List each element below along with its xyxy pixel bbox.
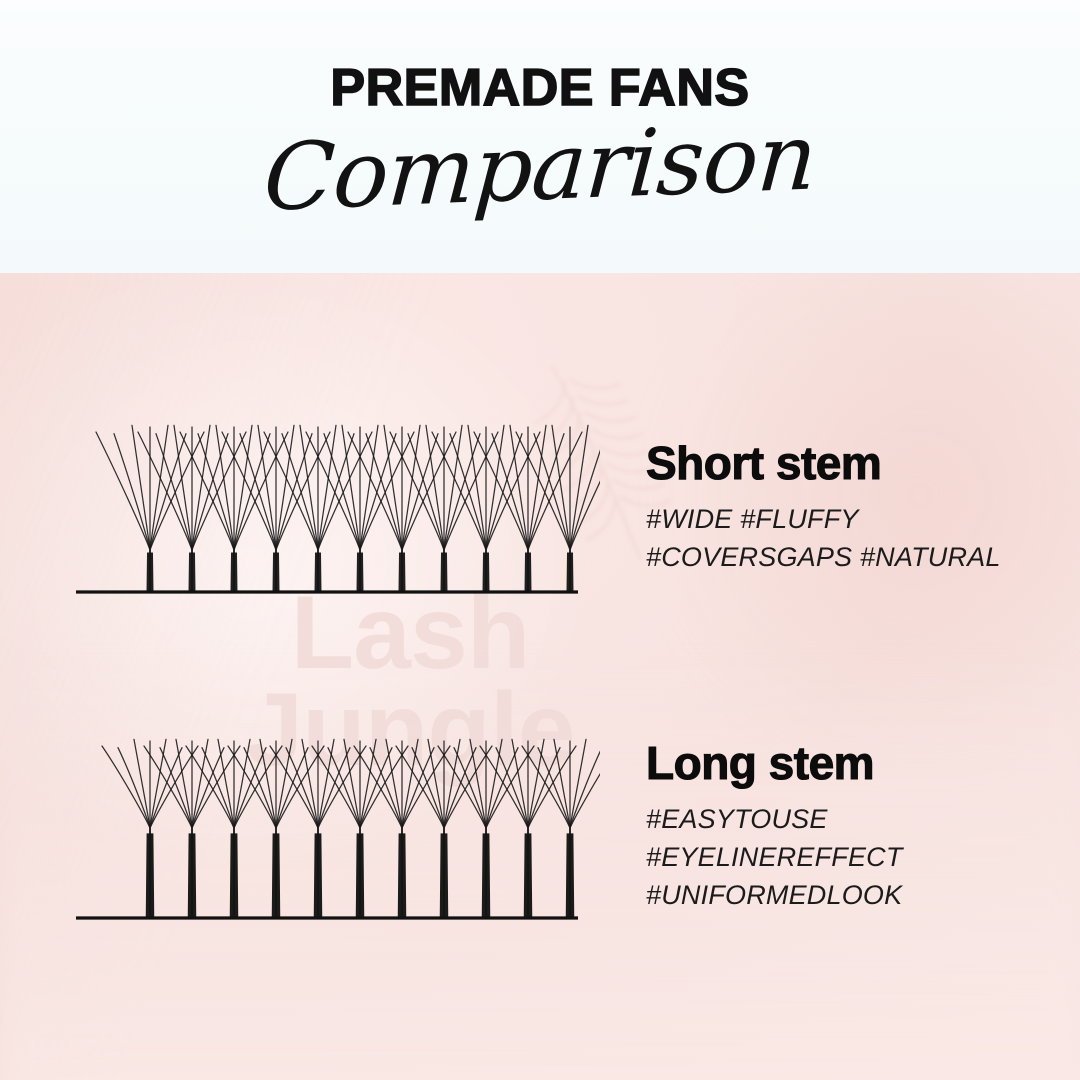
long-stem-tag-1: #EASYTOUSE bbox=[646, 801, 1046, 839]
page-title: PREMADE FANS bbox=[330, 62, 749, 114]
poster-canvas: Lash Jungle PREMADE FANS Comparison Shor… bbox=[0, 0, 1080, 1080]
long-stem-info: Long stem #EASYTOUSE #EYELINEREFFECT #UN… bbox=[646, 740, 1046, 914]
page-subtitle-script: Comparison bbox=[261, 109, 819, 227]
long-stem-tag-list: #EASYTOUSE #EYELINEREFFECT #UNIFORMEDLOO… bbox=[646, 801, 1046, 914]
long-stem-title: Long stem bbox=[646, 740, 1046, 787]
short-stem-title: Short stem bbox=[646, 440, 1046, 487]
long-stem-tag-3: #UNIFORMEDLOOK bbox=[646, 877, 1046, 915]
header-band: PREMADE FANS Comparison bbox=[0, 0, 1080, 273]
short-stem-tag-1: #WIDE #FLUFFY bbox=[646, 501, 1046, 539]
short-stem-tag-list: #WIDE #FLUFFY #COVERSGAPS #NATURAL bbox=[646, 501, 1046, 577]
short-stem-lash-fan-row bbox=[60, 400, 600, 610]
short-stem-info: Short stem #WIDE #FLUFFY #COVERSGAPS #NA… bbox=[646, 440, 1046, 577]
short-stem-tag-2: #COVERSGAPS #NATURAL bbox=[646, 539, 1046, 577]
long-stem-lash-fan-row bbox=[60, 720, 600, 935]
long-stem-tag-2: #EYELINEREFFECT bbox=[646, 839, 1046, 877]
